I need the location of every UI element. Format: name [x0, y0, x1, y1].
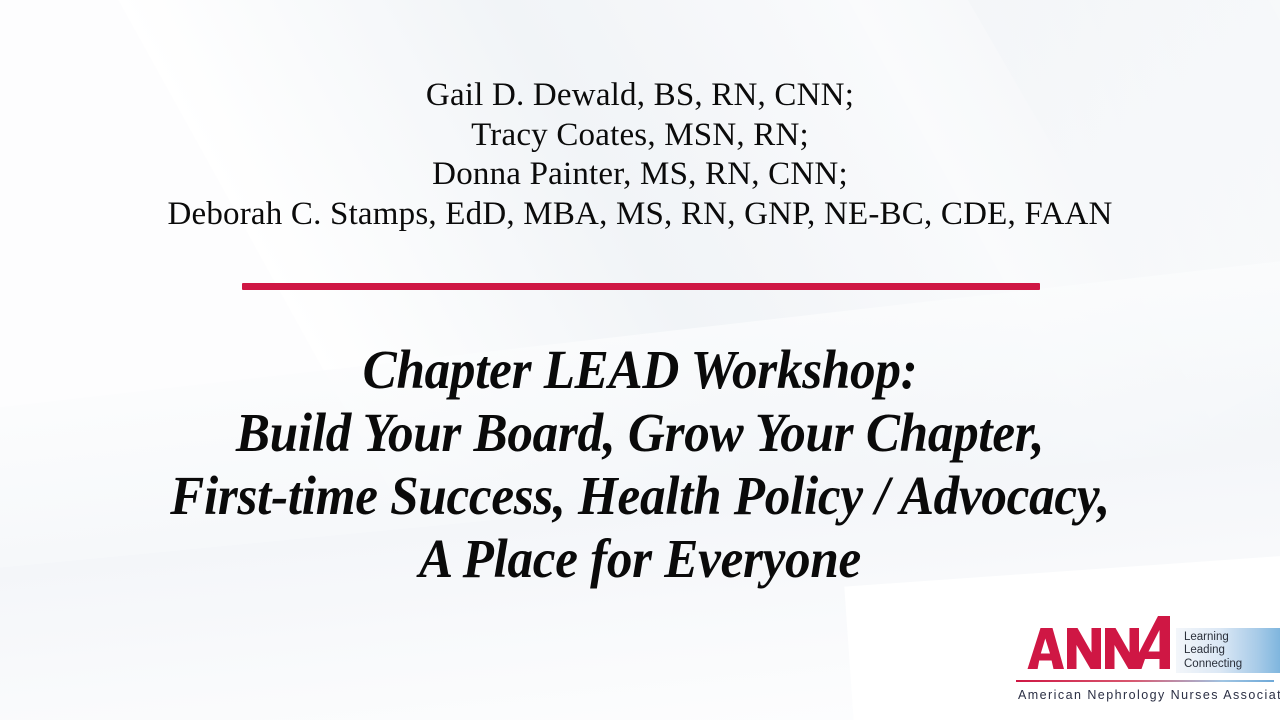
logo-tagline-1: Learning — [1184, 631, 1280, 644]
association-name: American Nephrology Nurses Association — [1018, 688, 1280, 702]
author-line-2: Tracy Coates, MSN, RN; — [0, 116, 1280, 156]
author-line-1: Gail D. Dewald, BS, RN, CNN; — [0, 76, 1280, 116]
slide-title: Chapter LEAD Workshop: Build Your Board,… — [45, 338, 1235, 590]
author-line-4: Deborah C. Stamps, EdD, MBA, MS, RN, GNP… — [0, 195, 1280, 235]
author-line-3: Donna Painter, MS, RN, CNN; — [0, 155, 1280, 195]
logo-upper-row: Learning Leading Connecting — [1012, 616, 1280, 678]
title-line-1: Chapter LEAD Workshop: — [45, 338, 1235, 401]
accent-divider — [242, 283, 1040, 290]
author-list: Gail D. Dewald, BS, RN, CNN; Tracy Coate… — [0, 76, 1280, 234]
presentation-slide: Gail D. Dewald, BS, RN, CNN; Tracy Coate… — [0, 0, 1280, 720]
logo-divider-rule — [1016, 680, 1274, 682]
title-line-4: A Place for Everyone — [45, 527, 1235, 590]
title-line-2: Build Your Board, Grow Your Chapter, — [45, 401, 1235, 464]
anna-wordmark-icon — [1018, 614, 1188, 674]
logo-tagline-box: Learning Leading Connecting — [1176, 628, 1280, 673]
logo-tagline-2: Leading — [1184, 644, 1280, 657]
title-line-3: First-time Success, Health Policy / Advo… — [45, 464, 1235, 527]
anna-logo: Learning Leading Connecting American Nep… — [1012, 616, 1280, 704]
logo-tagline-3: Connecting — [1184, 658, 1280, 671]
